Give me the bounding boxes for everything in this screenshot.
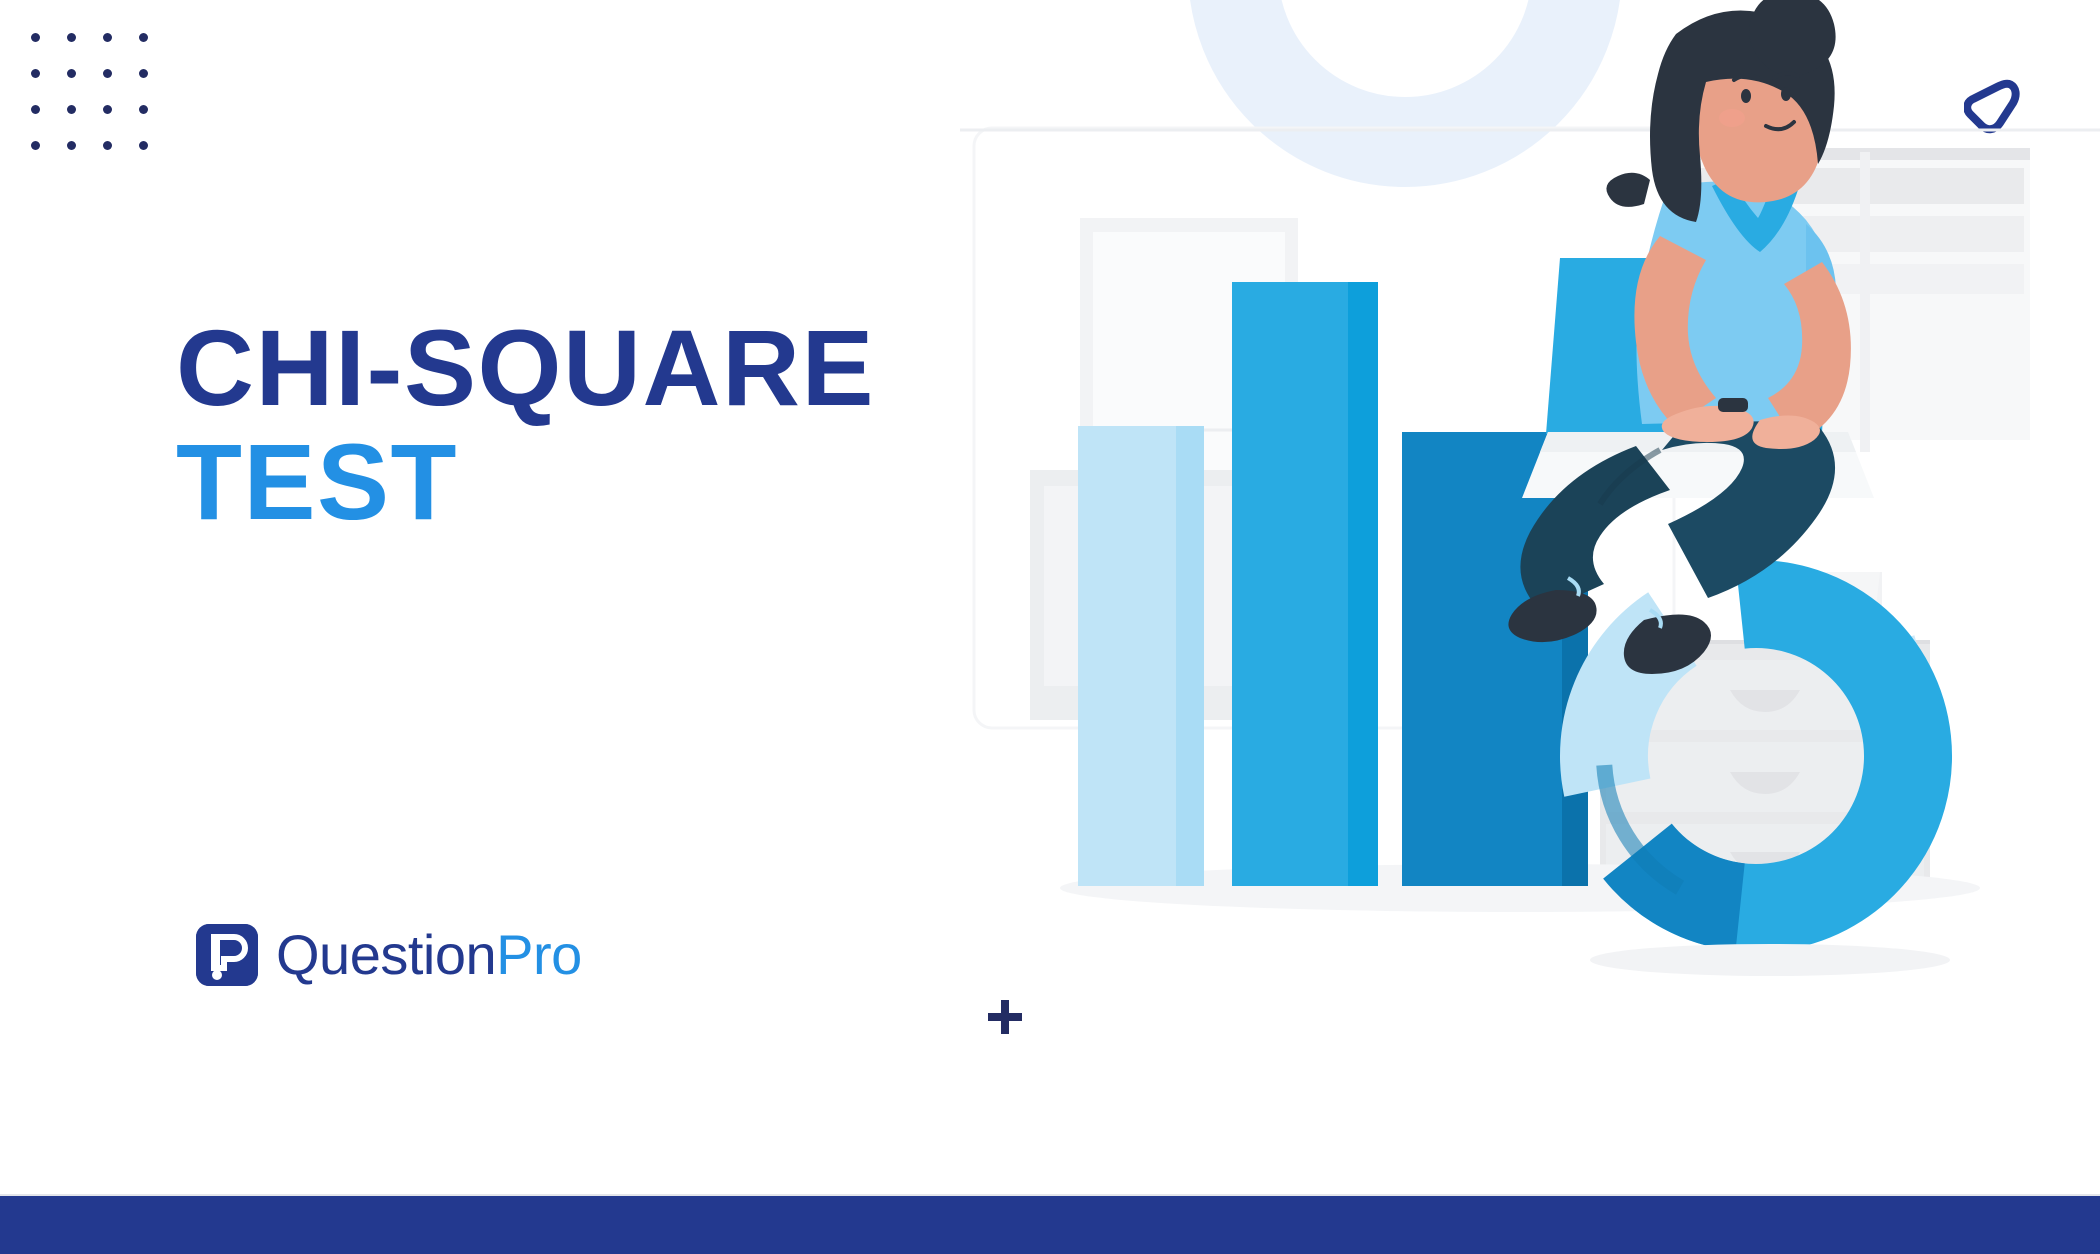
grid-dot (103, 69, 112, 78)
grid-dot (103, 33, 112, 42)
grid-dot (139, 69, 148, 78)
title-line-2: TEST (176, 432, 875, 532)
grid-dot (103, 141, 112, 150)
wordmark-question: Question (276, 923, 496, 986)
questionpro-badge-icon (196, 924, 258, 986)
grid-dot (31, 141, 40, 150)
grid-dot (67, 105, 76, 114)
grid-dot (139, 141, 148, 150)
bar-1 (1078, 426, 1204, 886)
grid-dot (31, 69, 40, 78)
grid-dot (103, 105, 112, 114)
page-title: CHI-SQUARE TEST (176, 318, 875, 533)
bar-2 (1232, 282, 1378, 886)
dot-grid-decoration (18, 20, 162, 164)
footer-band (0, 1196, 2100, 1254)
grid-dot (67, 33, 76, 42)
illustration-woman-with-charts (960, 0, 2100, 1120)
background-ring-decor (1233, 0, 1577, 142)
grid-dot (139, 33, 148, 42)
grid-dot (67, 141, 76, 150)
grid-dot (67, 69, 76, 78)
questionpro-wordmark: QuestionPro (276, 922, 582, 987)
questionpro-logo[interactable]: QuestionPro (196, 922, 582, 987)
grid-dot (31, 105, 40, 114)
grid-dot (31, 33, 40, 42)
title-line-1: CHI-SQUARE (176, 318, 875, 418)
donut-chart (1548, 548, 1963, 976)
wordmark-pro: Pro (496, 923, 582, 986)
grid-dot (139, 105, 148, 114)
poster-canvas: CHI-SQUARE TEST QuestionPro (0, 0, 2100, 1254)
